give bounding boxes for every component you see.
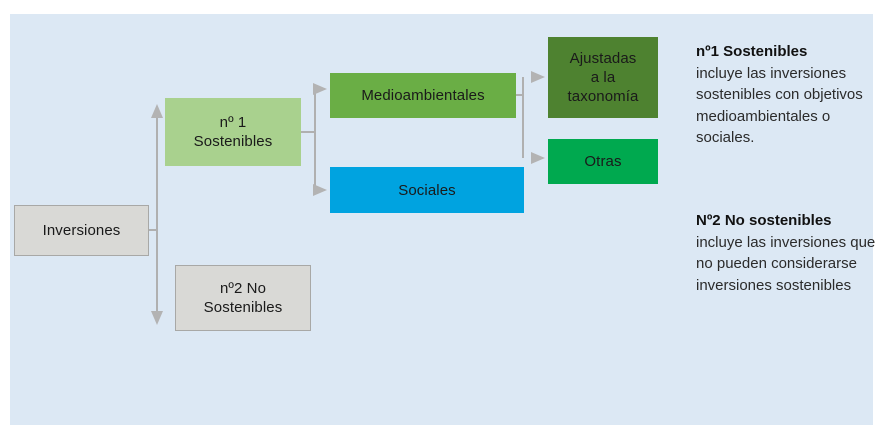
connector-inversiones-trunk: [149, 115, 157, 314]
annotation-no-sostenibles: Nº2 No sostenibles incluye las inversion…: [696, 210, 876, 296]
arrowhead-to-sostenibles: [151, 104, 163, 118]
node-otras-label: Otras: [584, 152, 621, 171]
node-sociales-label: Sociales: [398, 181, 456, 200]
node-medioambientales[interactable]: Medioambientales: [330, 73, 516, 118]
connector-medioambientales-trunk: [516, 77, 523, 158]
node-inversiones-label: Inversiones: [43, 221, 121, 240]
node-no-sostenibles[interactable]: nº2 No Sostenibles: [175, 265, 311, 331]
node-ajustadas-line1: Ajustadas: [570, 50, 637, 67]
arrowhead-to-medioambientales: [313, 83, 327, 95]
node-ajustadas-line2: a la: [591, 69, 616, 86]
arrowhead-to-otras: [531, 152, 545, 164]
arrowhead-to-no-sostenibles: [151, 311, 163, 325]
annotation-sostenibles-body: incluye las inversiones sostenibles con …: [696, 63, 876, 149]
annotation-no-sostenibles-title: Nº2 No sostenibles: [696, 210, 876, 232]
diagram-canvas: Inversiones nº 1 Sostenibles nº2 No Sost…: [10, 14, 873, 425]
annotation-sostenibles-title: nº1 Sostenibles: [696, 41, 876, 63]
connector-sostenibles-trunk: [301, 89, 315, 190]
node-ajustadas-label: Ajustadas a la taxonomía: [568, 49, 639, 106]
node-no-sostenibles-line2: Sostenibles: [204, 299, 283, 316]
node-medioambientales-label: Medioambientales: [361, 86, 484, 105]
node-sostenibles[interactable]: nº 1 Sostenibles: [165, 98, 301, 166]
annotation-sostenibles: nº1 Sostenibles incluye las inversiones …: [696, 41, 876, 149]
annotation-no-sostenibles-body: incluye las inversiones que no pueden co…: [696, 232, 876, 297]
arrowhead-to-sociales: [313, 184, 327, 196]
arrowhead-to-ajustadas: [531, 71, 545, 83]
node-sostenibles-line1: nº 1: [220, 114, 247, 131]
node-inversiones[interactable]: Inversiones: [14, 205, 149, 256]
node-sociales[interactable]: Sociales: [330, 167, 524, 213]
node-ajustadas-line3: taxonomía: [568, 88, 639, 105]
node-sostenibles-label: nº 1 Sostenibles: [194, 113, 273, 151]
node-no-sostenibles-line1: nº2 No: [220, 280, 266, 297]
node-sostenibles-line2: Sostenibles: [194, 133, 273, 150]
node-otras[interactable]: Otras: [548, 139, 658, 184]
node-no-sostenibles-label: nº2 No Sostenibles: [204, 279, 283, 317]
node-ajustadas-taxonomia[interactable]: Ajustadas a la taxonomía: [548, 37, 658, 118]
